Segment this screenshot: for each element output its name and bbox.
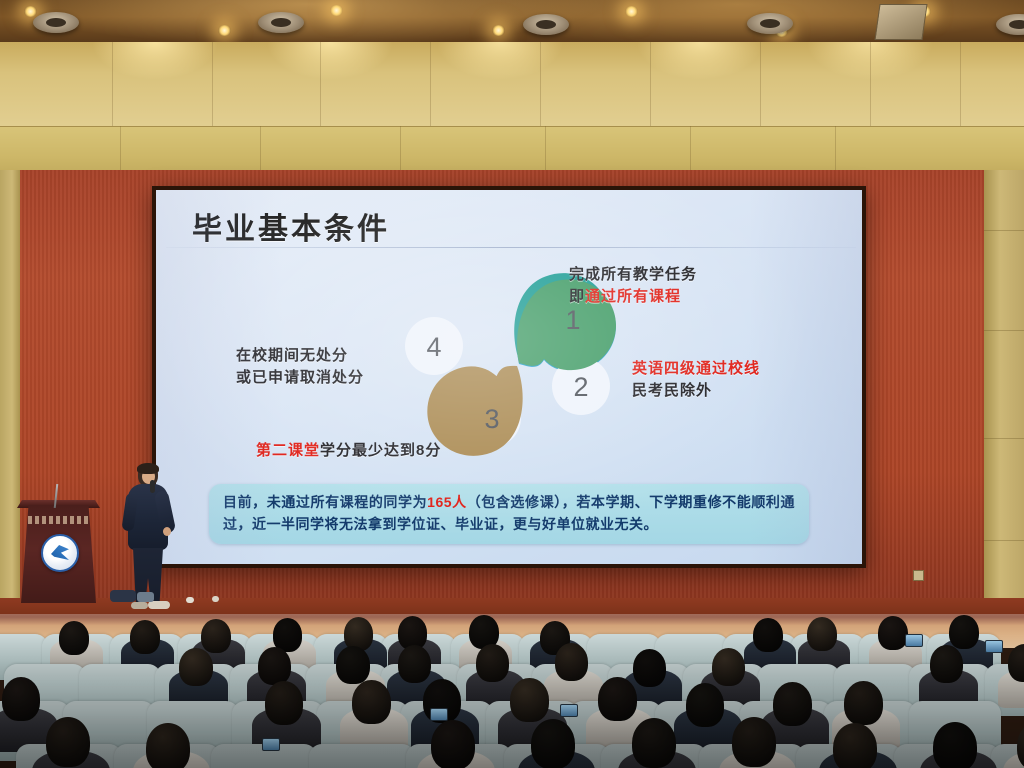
audience-member-head [598, 677, 637, 721]
audience-member-head [46, 717, 90, 767]
wall-outlet [913, 570, 924, 581]
audience-member-head [265, 681, 304, 725]
audience-member-head [1008, 644, 1024, 682]
audience-member-head [833, 723, 877, 768]
item-4-text: 在校期间无处分 或已申请取消处分 [236, 345, 364, 389]
audience-member-head [201, 619, 231, 653]
stage-props [110, 588, 170, 604]
callout-highlight: 165人 [427, 494, 467, 510]
pinwheel-number-4: 4 [426, 332, 441, 362]
wall-seam [760, 42, 761, 130]
presenter-hair [137, 463, 159, 474]
audience-member-head [130, 620, 160, 654]
projection-screen: 毕业基本条件 [152, 186, 866, 568]
audience-phone-screen [430, 708, 448, 721]
band-seam [690, 126, 691, 176]
podium-university-name [28, 516, 90, 524]
audience-member-head [510, 678, 549, 722]
podium-university-logo [41, 534, 79, 572]
audience-member-head [179, 648, 212, 686]
wall-seam [112, 42, 113, 130]
item-1-line-1: 完成所有教学任务 [569, 264, 697, 286]
stone-pillar-left [0, 170, 20, 602]
pinwheel-number-1: 1 [565, 305, 580, 335]
ceiling-downlight [218, 25, 231, 36]
audience-member-head [753, 618, 783, 652]
ceiling-speaker [747, 13, 793, 34]
slide-title: 毕业基本条件 [192, 204, 390, 248]
ceiling-speaker [33, 12, 79, 33]
ceiling-light-glow [0, 0, 1024, 42]
callout-box: 目前，未通过所有课程的同学为165人（包含选修课），若本学期、下学期重修不能顺利… [209, 484, 809, 544]
audience-phone-screen [262, 738, 280, 751]
audience-phone-screen [905, 634, 923, 647]
audience-member-head [773, 682, 812, 726]
audience-member-head [949, 615, 979, 649]
pinwheel-number-2: 2 [573, 372, 588, 402]
ceiling-downlight [492, 25, 505, 36]
ceiling-speaker [523, 14, 569, 35]
wall-seam [650, 42, 651, 130]
item-1-prefix: 即 [569, 288, 585, 305]
ceiling-downlight [24, 6, 37, 17]
audience-member-head [59, 621, 89, 655]
presentation-slide: 毕业基本条件 [156, 190, 862, 564]
audience-member-head [686, 683, 725, 727]
audience-member-head [476, 644, 509, 682]
ceiling-vent [874, 4, 927, 40]
item-1-text: 完成所有教学任务 即通过所有课程 [569, 264, 697, 308]
wall-seam [540, 42, 541, 130]
audience-member-head [930, 645, 963, 683]
audience-member-head [633, 649, 666, 687]
audience-member-head [146, 723, 190, 768]
wall-seam [212, 42, 213, 130]
audience-member-head [398, 645, 431, 683]
audience [0, 612, 1024, 768]
band-seam [835, 126, 836, 176]
item-3-highlight: 第二课堂 [256, 442, 320, 459]
item-1-line-2: 即通过所有课程 [569, 286, 697, 308]
audience-phone-screen [985, 640, 1003, 653]
ceiling-downlight [625, 6, 638, 17]
item-4-line-1: 在校期间无处分 [236, 345, 364, 367]
wall-seam [870, 42, 871, 130]
audience-member-head [2, 677, 41, 721]
audience-member-head [632, 718, 676, 768]
audience-member-head [844, 681, 883, 725]
audience-member-head [807, 617, 837, 651]
audience-member-head [878, 616, 908, 650]
audience-member-head [712, 648, 745, 686]
item-4-line-2: 或已申请取消处分 [236, 367, 364, 389]
band-seam [260, 126, 261, 176]
band-seam [120, 126, 121, 176]
item-1-highlight: 通过所有课程 [585, 288, 681, 305]
pinwheel-segment-4 [405, 317, 526, 458]
audience-member-head [431, 720, 475, 768]
presenter-handheld-microphone [150, 480, 155, 493]
audience-phone-screen [560, 704, 578, 717]
band-seam [545, 126, 546, 176]
band-seam [400, 126, 401, 176]
stone-pillar-right [984, 170, 1024, 602]
stage-small-object [186, 597, 194, 603]
lecture-hall-photo: 毕业基本条件 [0, 0, 1024, 768]
audience-member-head [336, 646, 369, 684]
wall-seam [320, 42, 321, 130]
ceiling-speaker [258, 12, 304, 33]
item-3-rest: 学分最少达到8分 [320, 442, 441, 459]
wall-seam [430, 42, 431, 130]
audience-member-head [555, 643, 588, 681]
presenter-hand [163, 527, 171, 536]
item-2-line-2: 民考民除外 [632, 380, 760, 402]
ceiling-downlight [330, 5, 343, 16]
audience-member-head [258, 647, 291, 685]
item-3-text: 第二课堂学分最少达到8分 [256, 440, 441, 462]
callout-part-1: 目前，未通过所有课程的同学为 [223, 494, 427, 510]
pinwheel-number-3: 3 [484, 404, 499, 434]
stage-object [137, 592, 154, 602]
item-2-line-1: 英语四级通过校线 [632, 358, 760, 380]
item-2-text: 英语四级通过校线 民考民除外 [632, 358, 760, 402]
stage-bag [110, 590, 136, 602]
audience-member-head [352, 680, 391, 724]
stage-small-object [212, 596, 219, 602]
audience-member-head [531, 719, 575, 768]
wall-seam [960, 42, 961, 130]
audience-member-head [732, 717, 776, 767]
auditorium-seat [309, 744, 415, 768]
audience-member-head [933, 722, 977, 768]
